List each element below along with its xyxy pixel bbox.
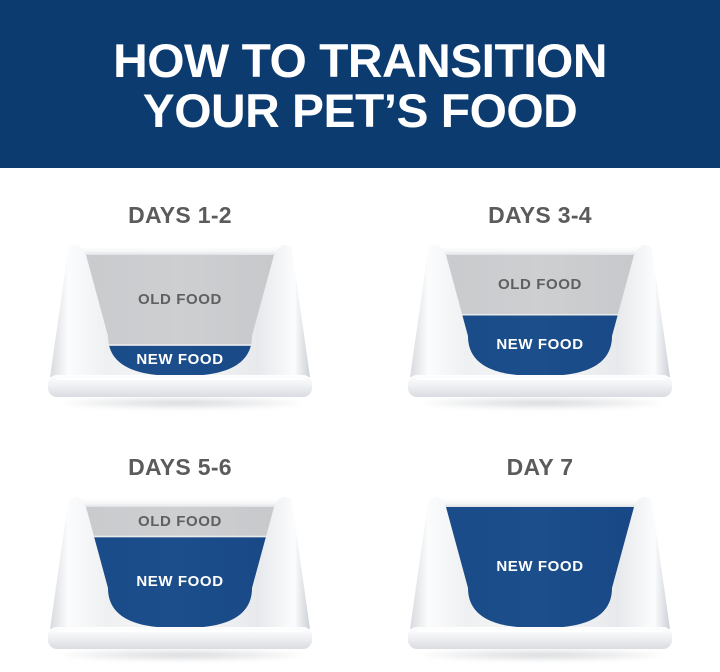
step-panel-days-3-4: DAYS 3-4 OLD FOOD NEW FOOD — [360, 168, 720, 420]
bowl-illustration — [406, 239, 674, 404]
step-panel-day-7: DAY 7 NEW FOOD — [360, 420, 720, 672]
step-title: DAY 7 — [507, 454, 574, 481]
step-title: DAYS 5-6 — [128, 454, 232, 481]
step-panel-days-5-6: DAYS 5-6 OLD FOOD NEW FOOD — [0, 420, 360, 672]
transition-steps-grid: DAYS 1-2 OLD FOOD NEW FOOD DAYS 3-4 OLD … — [0, 168, 720, 672]
bowl-illustration — [46, 491, 314, 656]
food-bowl: OLD FOOD NEW FOOD — [46, 491, 314, 656]
step-panel-days-1-2: DAYS 1-2 OLD FOOD NEW FOOD — [0, 168, 360, 420]
step-title: DAYS 3-4 — [488, 202, 592, 229]
food-bowl: OLD FOOD NEW FOOD — [46, 239, 314, 404]
bowl-illustration — [46, 239, 314, 404]
step-title: DAYS 1-2 — [128, 202, 232, 229]
food-bowl: NEW FOOD — [406, 491, 674, 656]
title-line-2: YOUR PET’S FOOD — [143, 86, 578, 136]
food-bowl: OLD FOOD NEW FOOD — [406, 239, 674, 404]
header-banner: HOW TO TRANSITION YOUR PET’S FOOD — [0, 0, 720, 168]
title-line-1: HOW TO TRANSITION — [113, 36, 607, 86]
bowl-illustration — [406, 491, 674, 656]
